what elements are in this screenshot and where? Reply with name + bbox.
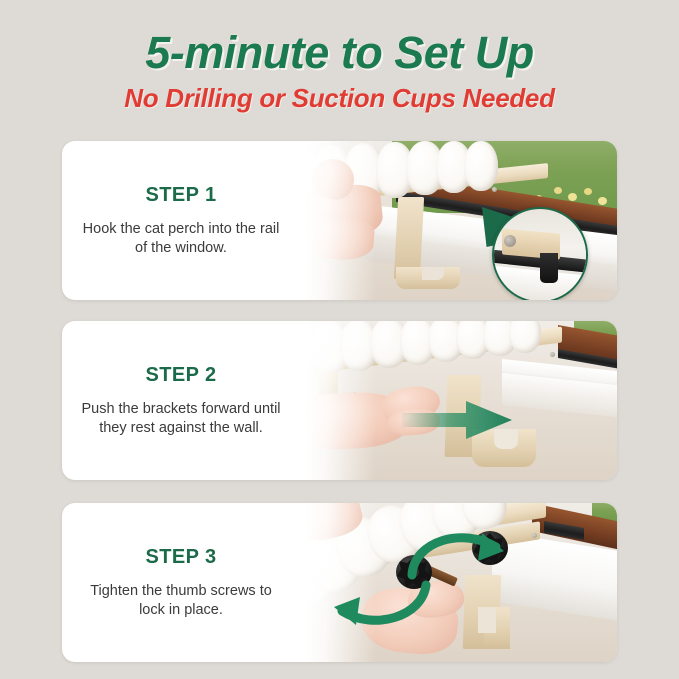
push-direction-arrow <box>402 399 514 441</box>
bracket-notch <box>478 607 496 633</box>
photo-left-fade <box>296 141 376 300</box>
page-subtitle: No Drilling or Suction Cups Needed <box>0 78 679 113</box>
step-2-label: STEP 2 <box>146 364 217 387</box>
frame-screw <box>532 533 537 538</box>
step-1-description: Hook the cat perch into the rail of the … <box>76 220 286 258</box>
flower-icon <box>598 197 607 205</box>
step-2-text-block: STEP 2 Push the brackets forward until t… <box>62 321 300 480</box>
inset-hook-clip <box>540 253 558 283</box>
step-card-1: STEP 1 Hook the cat perch into the rail … <box>62 141 617 300</box>
step-1-label: STEP 1 <box>146 184 217 207</box>
step-card-2: STEP 2 Push the brackets forward until t… <box>62 321 617 480</box>
step-2-photo <box>296 321 617 480</box>
cushion-lobe <box>464 141 498 191</box>
inset-screw <box>504 235 516 247</box>
flower-icon <box>554 187 562 194</box>
step-1-text-block: STEP 1 Hook the cat perch into the rail … <box>62 141 300 300</box>
step-3-description: Tighten the thumb screws to lock in plac… <box>76 582 286 620</box>
detail-inset-circle <box>492 207 588 300</box>
step-3-photo <box>296 503 617 662</box>
step-card-3: STEP 3 Tighten the thumb screws to lock … <box>62 503 617 662</box>
bracket-notch <box>422 267 444 280</box>
frame-screw <box>550 352 555 357</box>
photo-left-fade <box>296 321 376 480</box>
tighten-rotation-arrow-lower <box>326 573 436 635</box>
frame-screw <box>492 187 497 192</box>
cushion-lobe <box>509 321 541 353</box>
header: 5-minute to Set Up No Drilling or Suctio… <box>0 0 679 113</box>
step-2-description: Push the brackets forward until they res… <box>76 400 286 438</box>
flower-icon <box>584 188 592 195</box>
step-3-label: STEP 3 <box>146 546 217 569</box>
step-1-photo <box>296 141 617 300</box>
step-3-text-block: STEP 3 Tighten the thumb screws to lock … <box>62 503 300 662</box>
page-title: 5-minute to Set Up <box>0 0 679 78</box>
flower-icon <box>568 193 577 201</box>
